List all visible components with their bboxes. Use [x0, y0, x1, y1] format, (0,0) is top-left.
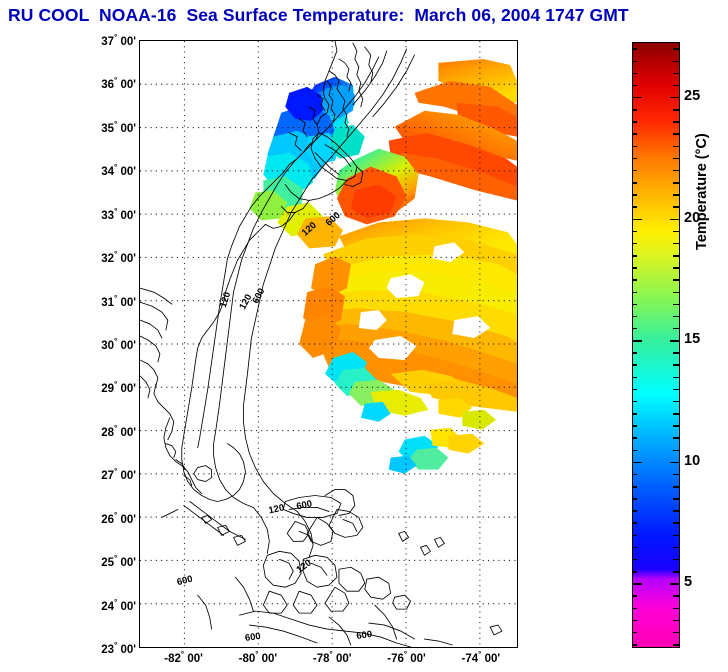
bathymetry-labels: 120 600 120 600 120 600 600 120 600 600 …	[140, 41, 517, 647]
x-tick-label: -74° 00'	[436, 650, 526, 665]
contour-label-120-d: 120	[268, 502, 286, 516]
y-tick-label: 25° 00'	[80, 554, 136, 569]
map-plot-area[interactable]: 120 600 120 600 120 600 600 120 600 600 …	[139, 40, 518, 648]
contour-label-120: 120	[300, 220, 319, 239]
colorbar[interactable]	[632, 42, 680, 648]
y-tick-label: 26° 00'	[80, 511, 136, 526]
contour-label-600-d: 600	[296, 498, 314, 512]
y-axis-labels: 23° 00'24° 00'25° 00'26° 00'27° 00'28° 0…	[78, 0, 136, 672]
y-tick-label: 32° 00'	[80, 250, 136, 265]
contour-label-600-f: 600	[356, 629, 373, 642]
colorbar-tick-label: 25	[684, 88, 700, 104]
y-tick-label: 28° 00'	[80, 424, 136, 439]
y-tick-label: 36° 00'	[80, 76, 136, 91]
contour-label-600-b: 600	[250, 286, 267, 305]
x-axis-labels: -82° 00'-80° 00'-78° 00'-76° 00'-74° 00'	[0, 650, 640, 672]
y-tick-label: 24° 00'	[80, 598, 136, 613]
y-tick-label: 30° 00'	[80, 337, 136, 352]
contour-label-600-e: 600	[244, 631, 261, 644]
colorbar-gradient	[633, 43, 679, 647]
y-tick-label: 34° 00'	[80, 163, 136, 178]
y-tick-label: 33° 00'	[80, 207, 136, 222]
contour-label-600-c: 600	[176, 574, 194, 588]
contour-label-600: 600	[324, 210, 343, 229]
y-tick-label: 37° 00'	[80, 33, 136, 48]
colorbar-tick-label: 5	[684, 574, 692, 590]
contour-label-120-c: 120	[218, 291, 233, 309]
colorbar-title: Temperature (°C)	[694, 133, 710, 250]
contour-label-120-e: 120	[294, 557, 313, 575]
y-tick-label: 31° 00'	[80, 294, 136, 309]
colorbar-tick-label: 10	[684, 453, 700, 469]
y-tick-label: 27° 00'	[80, 467, 136, 482]
y-tick-label: 29° 00'	[80, 380, 136, 395]
y-tick-label: 35° 00'	[80, 120, 136, 135]
map-canvas: 120 600 120 600 120 600 600 120 600 600 …	[140, 41, 517, 647]
colorbar-tick-label: 15	[684, 331, 700, 347]
